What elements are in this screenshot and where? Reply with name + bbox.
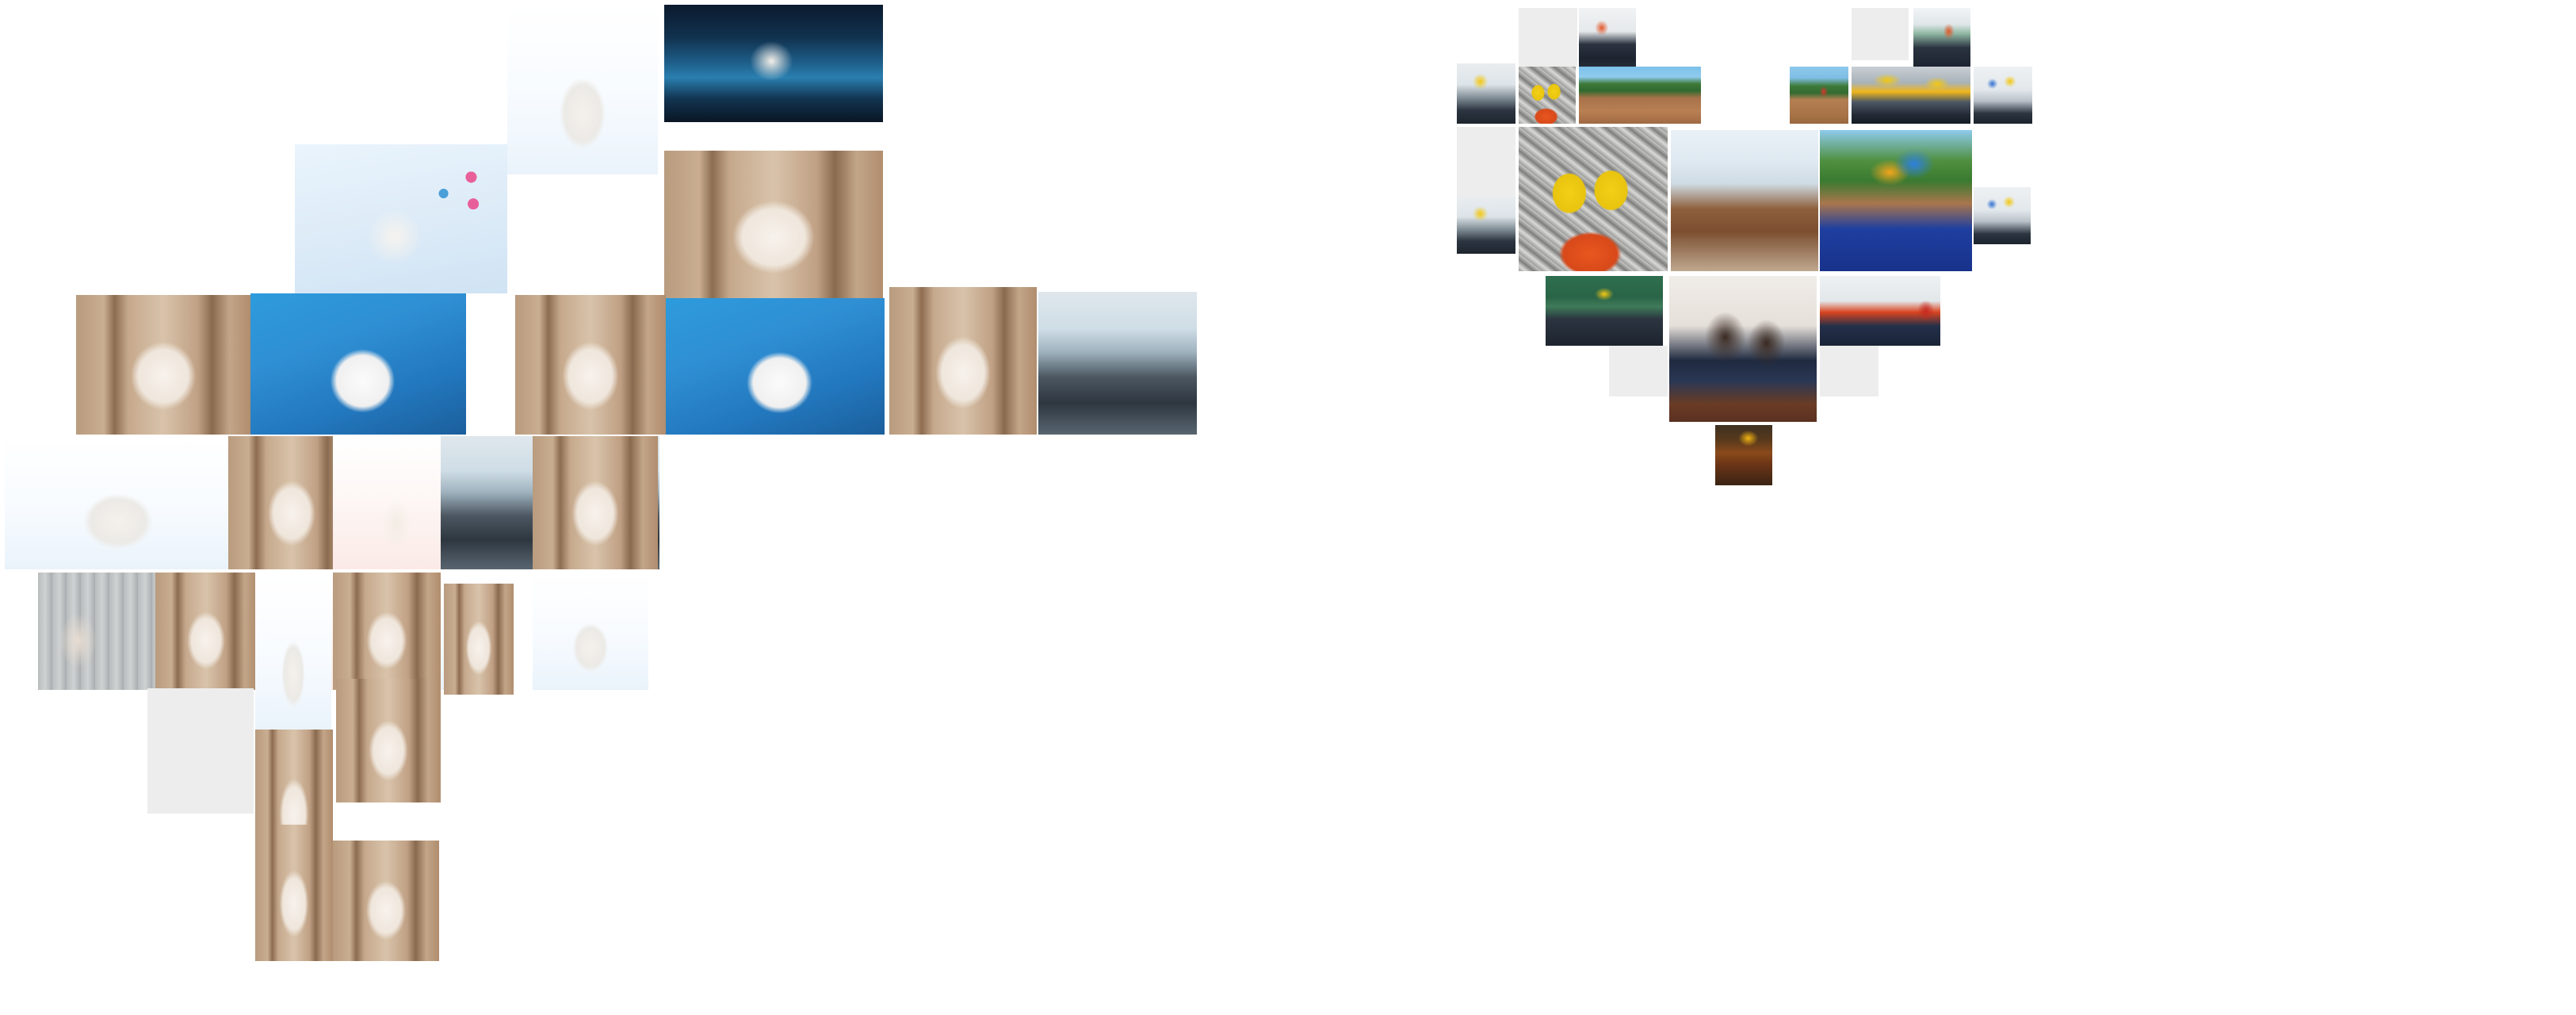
photo-tile-deskwork[interactable]	[1457, 63, 1515, 124]
photo-image	[1546, 276, 1663, 346]
photo-image	[1519, 67, 1576, 124]
photo-image	[333, 573, 441, 690]
photo-tile-podium-blue-c[interactable]	[889, 287, 1037, 435]
empty-tile-right-b[interactable]	[1852, 8, 1909, 60]
photo-image	[5, 436, 231, 569]
photo-tile-office-women[interactable]	[1669, 276, 1817, 422]
photo-image	[336, 679, 441, 802]
photo-image	[507, 5, 658, 174]
photo-image	[250, 293, 466, 435]
photo-image	[444, 584, 514, 695]
photo-tile-rock-face[interactable]	[1519, 67, 1576, 124]
photo-tile-office-laptop[interactable]	[1038, 292, 1197, 435]
photo-tile-stair-safety[interactable]	[1546, 276, 1663, 346]
photo-tile-workshop-wide[interactable]	[1457, 197, 1515, 254]
photo-image	[1457, 197, 1515, 254]
photo-tile-podium-gradient-a[interactable]	[155, 573, 257, 690]
photo-tile-night-work[interactable]	[1715, 425, 1772, 485]
photo-image	[295, 144, 507, 293]
photo-tile-microphone-speaker[interactable]	[336, 679, 441, 802]
photo-image	[1715, 425, 1772, 485]
photo-tile-podium-lecture[interactable]	[533, 436, 658, 569]
photo-image	[255, 573, 331, 731]
photo-tile-labor-rights-slide[interactable]	[533, 573, 648, 690]
photo-image	[1579, 8, 1636, 67]
photo-tile-young-presenter[interactable]	[255, 573, 331, 731]
empty-tile-left-a[interactable]	[147, 688, 254, 814]
photo-image	[1669, 276, 1817, 422]
photo-tile-survey-outdoor[interactable]	[1790, 67, 1848, 124]
photo-image	[76, 295, 250, 435]
photo-image	[1457, 63, 1515, 124]
photo-image	[1852, 67, 1970, 124]
photo-tile-podium-gradient-b[interactable]	[333, 573, 441, 690]
photo-tile-stage-banner[interactable]	[664, 5, 883, 122]
photo-image	[1038, 292, 1197, 435]
photo-image	[1974, 187, 2031, 244]
photo-image	[1671, 130, 1818, 271]
photo-tile-file-room[interactable]	[1820, 276, 1940, 346]
photo-tile-executive-speaker[interactable]	[507, 5, 658, 174]
photo-image	[515, 295, 666, 435]
photo-image	[155, 573, 257, 690]
empty-tile-right-d[interactable]	[1609, 346, 1668, 396]
photo-tile-quarry-view[interactable]	[1579, 67, 1701, 124]
empty-tile-right-c[interactable]	[1457, 127, 1515, 198]
photo-image	[255, 825, 333, 961]
photo-image	[664, 151, 883, 300]
photo-tile-podium-speaker-a[interactable]	[664, 151, 883, 300]
photo-image	[333, 841, 439, 961]
photo-tile-rock-inspection[interactable]	[1519, 127, 1668, 271]
photo-tile-podium-blue-a[interactable]	[515, 295, 666, 435]
photo-tile-hall-presenter[interactable]	[76, 295, 250, 435]
photo-tile-podium-final-b[interactable]	[333, 841, 439, 961]
photo-image	[1913, 8, 1970, 67]
photo-tile-lab-inspect[interactable]	[1974, 187, 2031, 244]
photo-tile-file-cabinet[interactable]	[1579, 8, 1636, 67]
photo-image	[1579, 67, 1701, 124]
photo-image	[664, 5, 883, 122]
photo-tile-podium-blue-b[interactable]	[666, 298, 885, 435]
photo-image	[1790, 67, 1848, 124]
empty-tile-right-e[interactable]	[1820, 346, 1878, 396]
photo-tile-mindmap-slide-2[interactable]	[295, 144, 507, 293]
photo-image	[38, 573, 155, 690]
photo-tile-blue-screen-hang[interactable]	[250, 293, 466, 435]
photo-image	[533, 436, 658, 569]
photo-tile-control-room[interactable]	[1671, 130, 1818, 271]
empty-tile-right-a[interactable]	[1519, 8, 1577, 67]
photo-tile-community-slide[interactable]	[5, 436, 231, 569]
photo-collage	[0, 0, 2576, 1015]
photo-tile-workshop[interactable]	[1974, 67, 2032, 124]
photo-image	[1519, 127, 1668, 271]
photo-tile-machinery[interactable]	[1852, 67, 1970, 124]
photo-tile-presenter-standing[interactable]	[444, 584, 514, 695]
photo-tile-curtain-speaker[interactable]	[38, 573, 155, 690]
photo-image	[533, 573, 648, 690]
photo-tile-podium-final-a[interactable]	[255, 825, 333, 961]
photo-tile-surveying[interactable]	[1820, 130, 1972, 271]
photo-image	[1820, 130, 1972, 271]
photo-image	[1820, 276, 1940, 346]
photo-tile-wall-pointer[interactable]	[1913, 8, 1970, 67]
photo-image	[889, 287, 1037, 435]
photo-image	[1974, 67, 2032, 124]
photo-image	[666, 298, 885, 435]
